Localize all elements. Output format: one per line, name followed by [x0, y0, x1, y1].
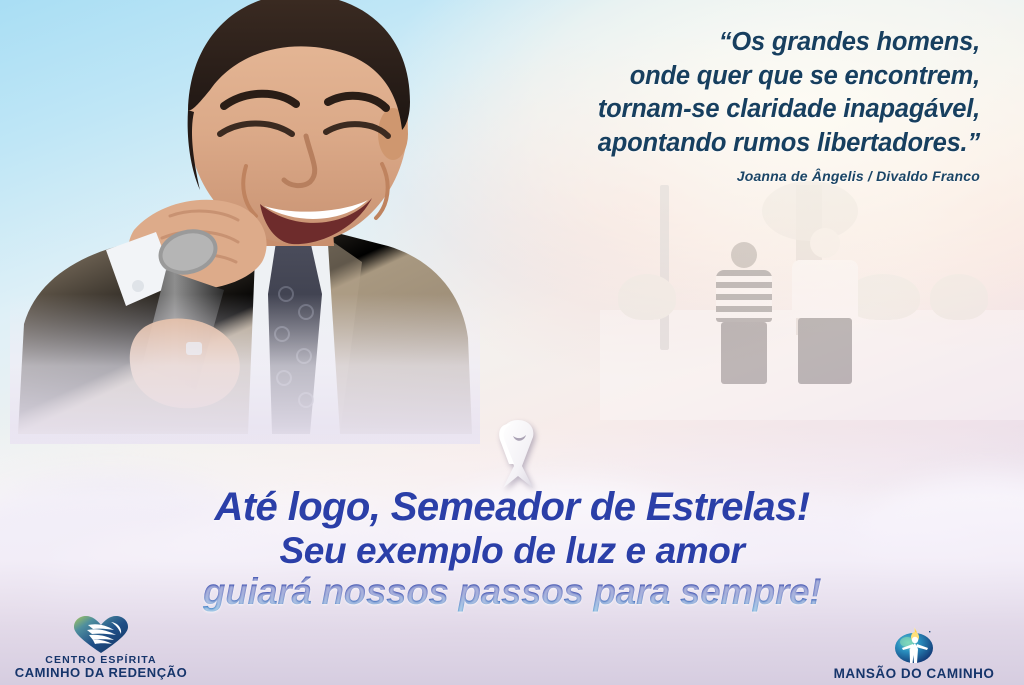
logo-left-label: CENTRO ESPÍRITA CAMINHO DA REDENÇÃO [6, 655, 196, 681]
quote-line-2: onde quer que se encontrem, [460, 60, 980, 94]
logo-mansao-do-caminho[interactable]: MANSÃO DO CAMINHO [814, 625, 1014, 681]
background-walk-photo [600, 185, 1024, 420]
headline-message: Até logo, Semeador de Estrelas! Seu exem… [0, 487, 1024, 612]
heart-clasped-hands-icon [6, 614, 196, 654]
background-bush [618, 274, 676, 320]
logo-centro-espirita-caminho-da-redencao[interactable]: CENTRO ESPÍRITA CAMINHO DA REDENÇÃO [6, 614, 196, 681]
logo-left-line-2: CAMINHO DA REDENÇÃO [6, 666, 196, 681]
quote-line-4: apontando rumos libertadores.” [460, 127, 980, 161]
quote-line-1: “Os grandes homens, [460, 26, 980, 60]
quote-attribution: Joanna de Ângelis / Divaldo Franco [460, 168, 980, 184]
white-awareness-ribbon-icon [487, 414, 549, 492]
background-person-adult [792, 228, 858, 384]
background-person-child [716, 242, 772, 384]
headline-line-1: Até logo, Semeador de Estrelas! [0, 487, 1024, 529]
background-bush [930, 274, 988, 320]
quote-line-3: tornam-se claridade inapagável, [460, 93, 980, 127]
portrait-bottom-fade [10, 294, 480, 444]
portrait-photo [10, 0, 480, 434]
logo-right-line-2: MANSÃO DO CAMINHO [814, 666, 1014, 681]
poster-canvas: “Os grandes homens, onde quer que se enc… [0, 0, 1024, 685]
headline-line-2: Seu exemplo de luz e amor [0, 532, 1024, 570]
quote-text: “Os grandes homens, onde quer que se enc… [460, 26, 980, 161]
headline-line-3: guiará nossos passos para sempre! [0, 573, 1024, 611]
background-pole [660, 185, 669, 350]
globe-figure-flame-icon [814, 625, 1014, 665]
logo-right-label: MANSÃO DO CAMINHO [814, 666, 1014, 681]
